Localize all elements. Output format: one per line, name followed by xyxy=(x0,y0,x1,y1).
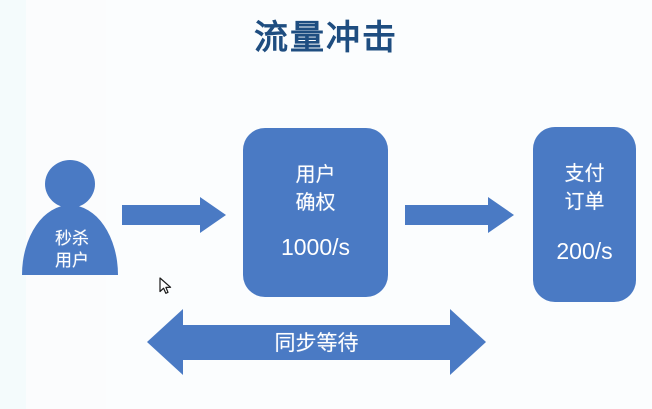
process-box-title-line2: 确权 xyxy=(243,188,388,216)
arrow-head xyxy=(488,197,514,233)
actor-label-line2: 用户 xyxy=(18,250,126,272)
slide-canvas: 流量冲击 秒杀 用户 用户 确权 1000/s 支付 订单 200/s xyxy=(0,0,652,409)
page-title: 流量冲击 xyxy=(0,16,652,60)
person-head-icon xyxy=(45,160,95,208)
actor-label: 秒杀 用户 xyxy=(18,228,126,272)
process-box-title: 支付 订单 xyxy=(533,159,636,215)
arrow-actor-to-auth-icon xyxy=(122,197,226,233)
process-box-payment-order: 支付 订单 200/s xyxy=(533,127,636,302)
process-box-user-auth: 用户 确权 1000/s xyxy=(243,128,388,297)
process-box-rate: 200/s xyxy=(533,237,636,265)
arrow-shaft xyxy=(122,205,200,225)
bidirectional-arrow-sync-wait-icon: 同步等待 xyxy=(147,309,486,376)
mouse-pointer-icon xyxy=(159,277,173,295)
arrow-shaft xyxy=(405,205,488,225)
process-box-title: 用户 确权 xyxy=(243,160,388,216)
process-box-title-line1: 用户 xyxy=(243,160,388,188)
bidirectional-arrow-label: 同步等待 xyxy=(147,329,486,357)
arrow-auth-to-payment-icon xyxy=(405,197,514,233)
actor-seckill-user: 秒杀 用户 xyxy=(18,160,126,278)
process-box-title-line1: 支付 xyxy=(533,159,636,187)
arrow-head xyxy=(200,197,226,233)
process-box-rate: 1000/s xyxy=(243,233,388,261)
process-box-title-line2: 订单 xyxy=(533,187,636,215)
actor-label-line1: 秒杀 xyxy=(18,228,126,250)
